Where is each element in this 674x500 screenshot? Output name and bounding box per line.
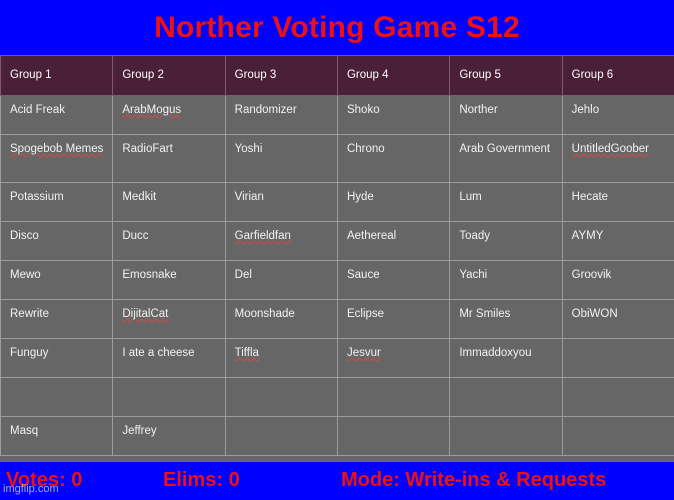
entry-cell[interactable]: Mr Smiles [450, 300, 562, 339]
entry-cell[interactable]: Spogebob Memes [1, 135, 113, 183]
entry-cell[interactable]: Potassium [1, 183, 113, 222]
entry-label: Jesvur [347, 347, 381, 359]
entry-cell[interactable]: Masq [1, 417, 113, 456]
entry-cell[interactable]: Hyde [337, 183, 449, 222]
table-row [1, 378, 674, 417]
footer-bar: Votes: 0 Elims: 0 Mode: Write-ins & Requ… [0, 462, 674, 500]
entry-cell[interactable]: Emosnake [113, 261, 225, 300]
column-header-group-6[interactable]: Group 6 [562, 56, 674, 96]
entry-cell[interactable]: Sauce [337, 261, 449, 300]
entry-label: Rewrite [10, 308, 49, 320]
voting-game-board: Norther Voting Game S12 Group 1Group 2Gr… [0, 0, 674, 500]
entry-label: Masq [10, 425, 38, 437]
entry-cell[interactable]: DijitalCat [113, 300, 225, 339]
entry-cell[interactable] [562, 378, 674, 417]
entry-cell[interactable]: Norther [450, 96, 562, 135]
entry-label: Moonshade [235, 308, 295, 320]
entry-label: Garfieldfan [235, 230, 291, 242]
entry-cell[interactable]: Groovik [562, 261, 674, 300]
entry-label: Arab Government [459, 143, 550, 155]
entry-cell[interactable]: Lum [450, 183, 562, 222]
entry-cell[interactable] [337, 378, 449, 417]
table-body: Acid FreakArabMogusRandomizerShokoNorthe… [1, 96, 674, 456]
table-row: Acid FreakArabMogusRandomizerShokoNorthe… [1, 96, 674, 135]
entry-label: Jeffrey [122, 425, 156, 437]
entry-cell[interactable] [113, 378, 225, 417]
entry-cell[interactable]: I ate a cheese [113, 339, 225, 378]
entry-label: Disco [10, 230, 39, 242]
table-row: MewoEmosnakeDelSauceYachiGroovik [1, 261, 674, 300]
entry-cell[interactable]: Jehlo [562, 96, 674, 135]
entry-label: Potassium [10, 191, 64, 203]
entry-label: Eclipse [347, 308, 384, 320]
entry-label: Del [235, 269, 252, 281]
entry-cell[interactable]: Rewrite [1, 300, 113, 339]
entry-label: Aethereal [347, 230, 396, 242]
entry-label: UntitledGoober [572, 143, 649, 155]
entry-label: Groovik [572, 269, 612, 281]
entry-cell[interactable]: Moonshade [225, 300, 337, 339]
entry-cell[interactable]: Ducc [113, 222, 225, 261]
entry-cell[interactable]: Acid Freak [1, 96, 113, 135]
elims-counter: Elims: 0 [163, 469, 240, 492]
entry-label: Funguy [10, 347, 48, 359]
table-row: DiscoDuccGarfieldfanAetherealToadyAYMY [1, 222, 674, 261]
column-header-group-3[interactable]: Group 3 [225, 56, 337, 96]
entry-label: Virian [235, 191, 264, 203]
entry-cell[interactable] [450, 417, 562, 456]
entry-cell[interactable] [450, 378, 562, 417]
entry-cell[interactable]: Medkit [113, 183, 225, 222]
groups-grid-container: Group 1Group 2Group 3Group 4Group 5Group… [0, 55, 674, 462]
entry-cell[interactable] [562, 339, 674, 378]
entry-cell[interactable] [225, 378, 337, 417]
entry-label: Yoshi [235, 143, 263, 155]
entry-cell[interactable]: Arab Government [450, 135, 562, 183]
entry-label: Emosnake [122, 269, 176, 281]
entry-cell[interactable]: Chrono [337, 135, 449, 183]
entry-label: AYMY [572, 230, 604, 242]
entry-label: Hyde [347, 191, 374, 203]
column-header-group-5[interactable]: Group 5 [450, 56, 562, 96]
table-row: FunguyI ate a cheeseTifflaJesvurImmaddox… [1, 339, 674, 378]
entry-cell[interactable]: Disco [1, 222, 113, 261]
entry-cell[interactable]: Tiffla [225, 339, 337, 378]
entry-label: I ate a cheese [122, 347, 194, 359]
column-header-group-2[interactable]: Group 2 [113, 56, 225, 96]
entry-cell[interactable]: Toady [450, 222, 562, 261]
entry-cell[interactable] [1, 378, 113, 417]
entry-label: Sauce [347, 269, 380, 281]
imgflip-watermark: imgflip.com [3, 484, 59, 495]
entry-cell[interactable]: Hecate [562, 183, 674, 222]
page-title: Norther Voting Game S12 [154, 13, 520, 43]
entry-cell[interactable]: Yachi [450, 261, 562, 300]
entry-cell[interactable]: Immaddoxyou [450, 339, 562, 378]
entry-cell[interactable]: AYMY [562, 222, 674, 261]
entry-label: Medkit [122, 191, 156, 203]
entry-cell[interactable]: ArabMogus [113, 96, 225, 135]
entry-label: Mewo [10, 269, 41, 281]
entry-label: Immaddoxyou [459, 347, 531, 359]
table-row: PotassiumMedkitVirianHydeLumHecate [1, 183, 674, 222]
entry-label: Lum [459, 191, 481, 203]
entry-cell[interactable] [337, 417, 449, 456]
entry-cell[interactable] [562, 417, 674, 456]
table-row: MasqJeffrey [1, 417, 674, 456]
column-header-group-4[interactable]: Group 4 [337, 56, 449, 96]
entry-label: Hecate [572, 191, 608, 203]
entry-cell[interactable]: Jeffrey [113, 417, 225, 456]
entry-label: Toady [459, 230, 490, 242]
entry-label: Shoko [347, 104, 380, 116]
entry-cell[interactable]: Eclipse [337, 300, 449, 339]
column-header-group-1[interactable]: Group 1 [1, 56, 113, 96]
entry-label: Ducc [122, 230, 148, 242]
entry-label: Mr Smiles [459, 308, 510, 320]
mode-label: Mode: Write-ins & Requests [341, 469, 606, 492]
entry-label: DijitalCat [122, 308, 168, 320]
entry-cell[interactable]: Funguy [1, 339, 113, 378]
entry-cell[interactable]: Del [225, 261, 337, 300]
entry-label: Chrono [347, 143, 385, 155]
table-row: RewriteDijitalCatMoonshadeEclipseMr Smil… [1, 300, 674, 339]
entry-cell[interactable]: RadioFart [113, 135, 225, 183]
table-header: Group 1Group 2Group 3Group 4Group 5Group… [1, 56, 674, 96]
groups-table: Group 1Group 2Group 3Group 4Group 5Group… [0, 55, 674, 456]
entry-label: ObiWON [572, 308, 618, 320]
entry-cell[interactable] [225, 417, 337, 456]
table-row: Spogebob MemesRadioFartYoshiChronoArab G… [1, 135, 674, 183]
entry-label: Spogebob Memes [10, 143, 103, 155]
entry-label: Jehlo [572, 104, 600, 116]
entry-cell[interactable]: Shoko [337, 96, 449, 135]
entry-label: Acid Freak [10, 104, 65, 116]
entry-cell[interactable]: Randomizer [225, 96, 337, 135]
entry-cell[interactable]: Yoshi [225, 135, 337, 183]
entry-label: Yachi [459, 269, 487, 281]
table-header-row: Group 1Group 2Group 3Group 4Group 5Group… [1, 56, 674, 96]
entry-label: RadioFart [122, 143, 173, 155]
entry-cell[interactable]: Mewo [1, 261, 113, 300]
entry-cell[interactable]: Jesvur [337, 339, 449, 378]
entry-label: Norther [459, 104, 497, 116]
entry-cell[interactable]: ObiWON [562, 300, 674, 339]
entry-cell[interactable]: UntitledGoober [562, 135, 674, 183]
entry-cell[interactable]: Virian [225, 183, 337, 222]
title-banner: Norther Voting Game S12 [0, 0, 674, 55]
entry-label: ArabMogus [122, 104, 181, 116]
entry-cell[interactable]: Garfieldfan [225, 222, 337, 261]
entry-cell[interactable]: Aethereal [337, 222, 449, 261]
entry-label: Tiffla [235, 347, 259, 359]
entry-label: Randomizer [235, 104, 297, 116]
